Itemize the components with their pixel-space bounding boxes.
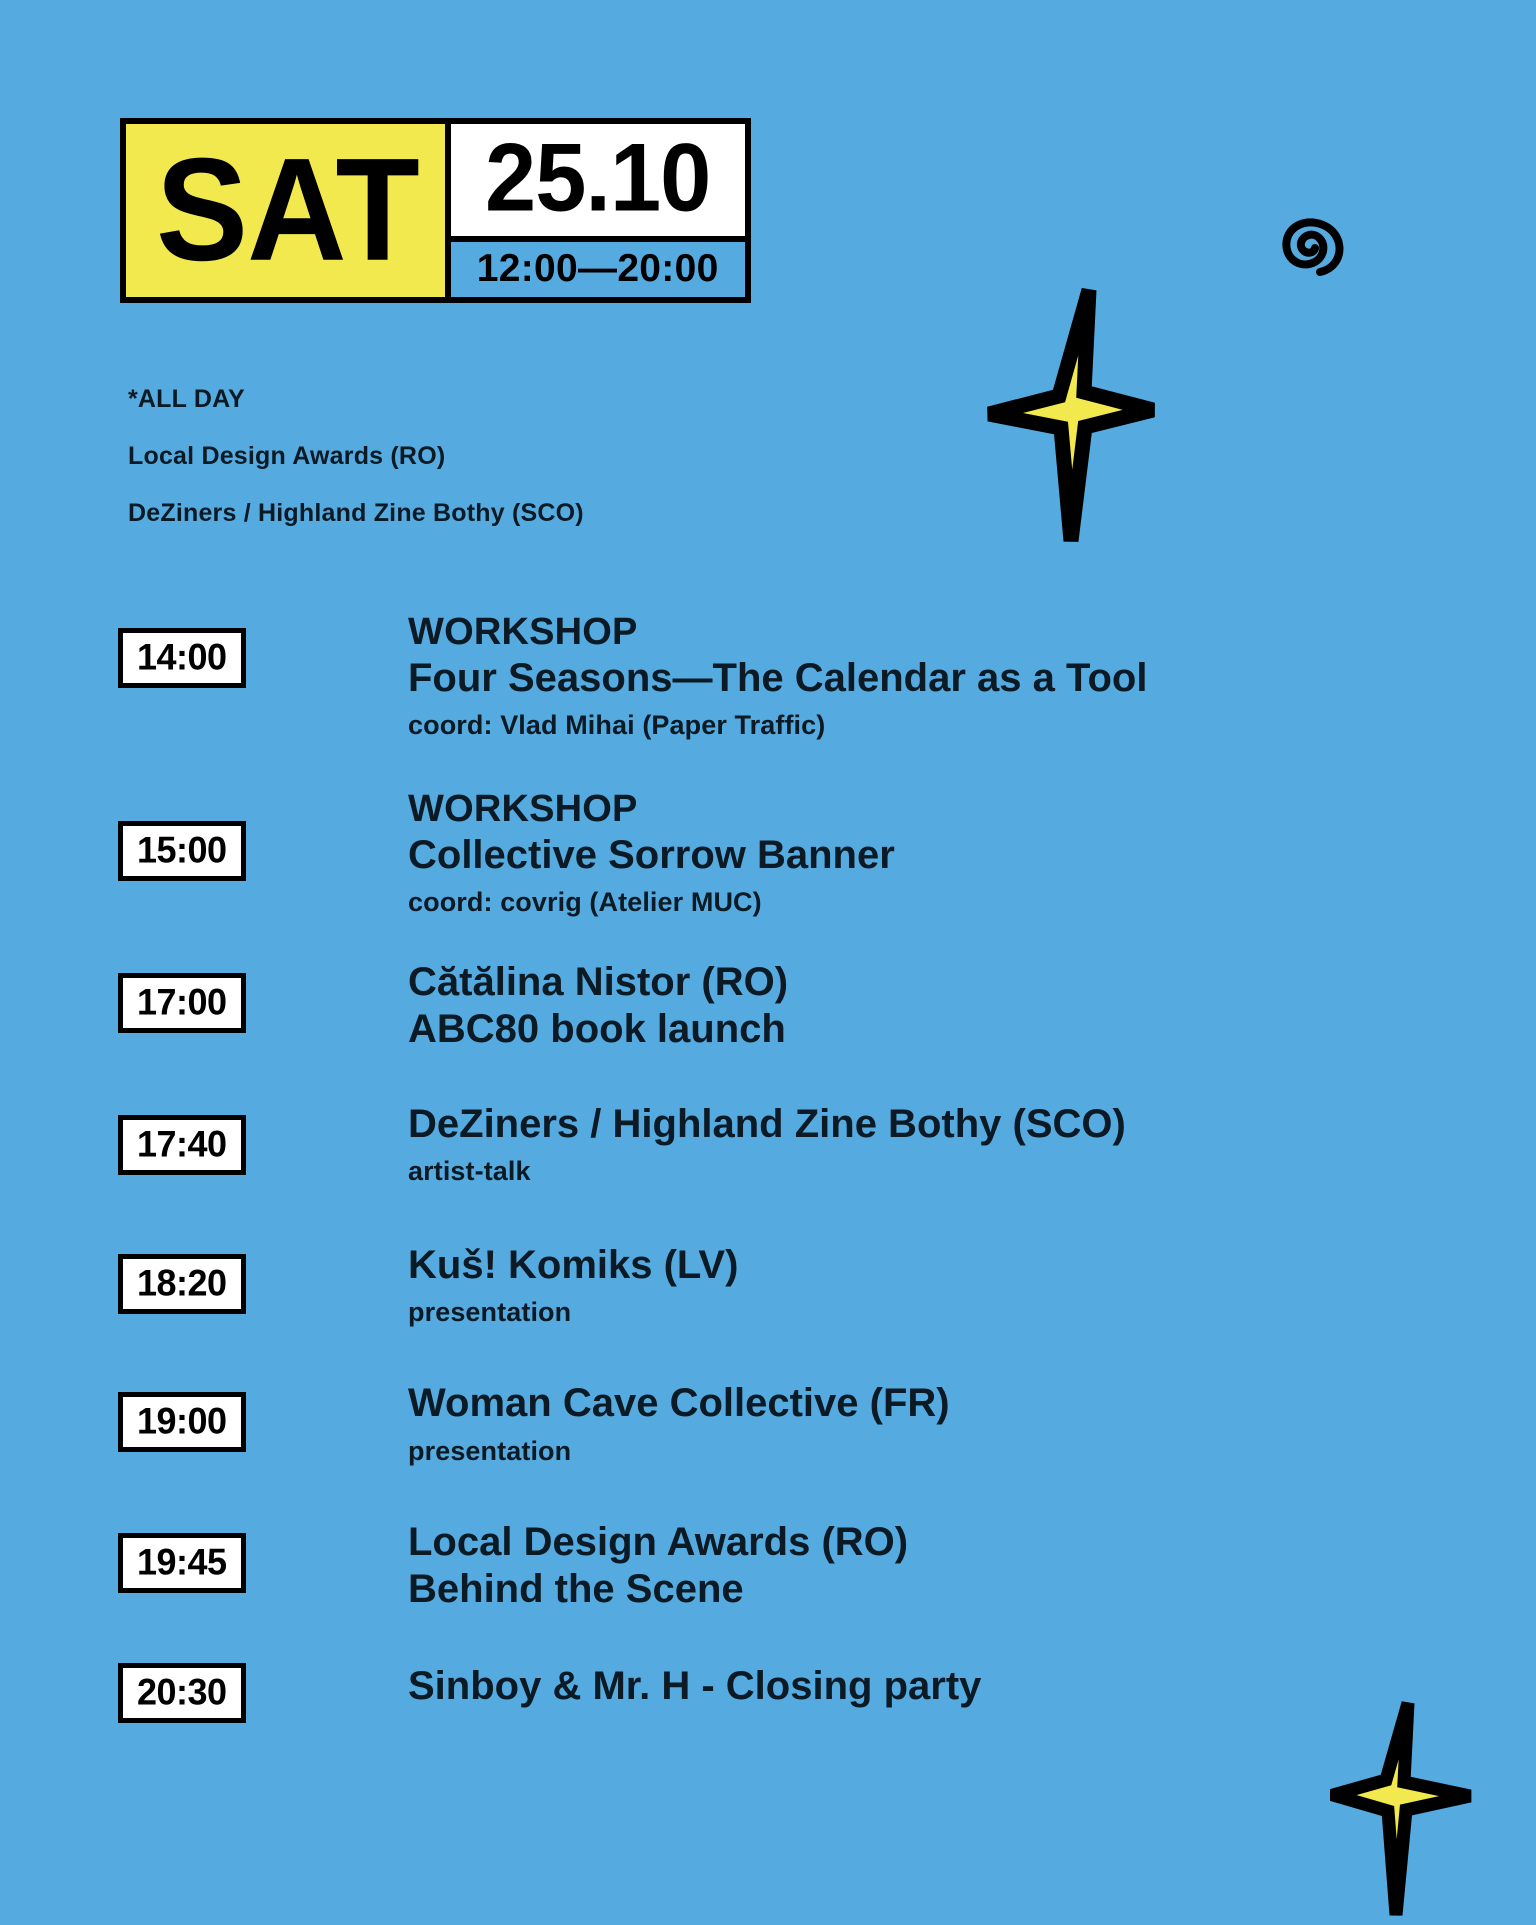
- four-point-star-icon: [1330, 1700, 1480, 1925]
- schedule-entry: 19:45 Local Design Awards (RO) Behind th…: [118, 1517, 1438, 1613]
- entry-title: Four Seasons—The Calendar as a Tool: [408, 655, 1438, 702]
- time-chip: 14:00: [118, 628, 246, 688]
- time-label: 15:00: [137, 832, 227, 869]
- schedule-entry: 15:00 WORKSHOP Collective Sorrow Banner …: [118, 785, 1438, 918]
- entry-title: Local Design Awards (RO): [408, 1519, 1438, 1566]
- entry-title: Sinboy & Mr. H - Closing party: [408, 1663, 1438, 1710]
- time-label: 19:00: [137, 1403, 227, 1440]
- schedule-entry: 19:00 Woman Cave Collective (FR) present…: [118, 1378, 1438, 1467]
- time-chip: 17:00: [118, 973, 246, 1033]
- schedule-entry: 17:40 DeZiners / Highland Zine Bothy (SC…: [118, 1099, 1438, 1188]
- entry-kicker: WORKSHOP: [408, 787, 1438, 832]
- entry-body: Sinboy & Mr. H - Closing party: [408, 1661, 1438, 1710]
- entry-body: Kuš! Komiks (LV) presentation: [408, 1240, 1438, 1329]
- entry-kicker: WORKSHOP: [408, 610, 1438, 655]
- entry-subtitle: presentation: [408, 1296, 1438, 1328]
- time-chip-wrap: 17:00: [118, 957, 408, 1033]
- entry-body: DeZiners / Highland Zine Bothy (SCO) art…: [408, 1099, 1438, 1188]
- time-chip: 20:30: [118, 1663, 246, 1723]
- entry-subtitle: coord: covrig (Atelier MUC): [408, 886, 1438, 918]
- entry-body: Woman Cave Collective (FR) presentation: [408, 1378, 1438, 1467]
- time-label: 17:00: [137, 983, 227, 1020]
- entry-body: WORKSHOP Collective Sorrow Banner coord:…: [408, 785, 1438, 918]
- hours-box: 12:00—20:00: [451, 242, 745, 297]
- time-label: 18:20: [137, 1264, 227, 1301]
- time-chip: 17:40: [118, 1115, 246, 1175]
- time-chip-wrap: 19:45: [118, 1517, 408, 1593]
- time-label: 17:40: [137, 1125, 227, 1162]
- entry-title: DeZiners / Highland Zine Bothy (SCO): [408, 1101, 1438, 1148]
- poster-canvas: SAT 25.10 12:00—20:00 *ALL DAY Local Des…: [0, 0, 1536, 1920]
- entry-body: WORKSHOP Four Seasons—The Calendar as a …: [408, 608, 1438, 741]
- schedule-list: 14:00 WORKSHOP Four Seasons—The Calendar…: [118, 608, 1438, 1723]
- schedule-entry: 20:30 Sinboy & Mr. H - Closing party: [118, 1661, 1438, 1723]
- hours-label: 12:00—20:00: [477, 249, 719, 288]
- entry-subtitle: coord: Vlad Mihai (Paper Traffic): [408, 709, 1438, 741]
- time-label: 14:00: [137, 638, 227, 675]
- all-day-heading: *ALL DAY: [128, 385, 584, 414]
- entry-title: Collective Sorrow Banner: [408, 832, 1438, 879]
- time-chip-wrap: 14:00: [118, 608, 408, 688]
- entry-title: Woman Cave Collective (FR): [408, 1380, 1438, 1427]
- day-box: SAT: [126, 124, 451, 297]
- all-day-item: DeZiners / Highland Zine Bothy (SCO): [128, 499, 584, 528]
- entry-body: Local Design Awards (RO) Behind the Scen…: [408, 1517, 1438, 1613]
- four-point-star-icon: [985, 288, 1170, 548]
- date-box: 25.10: [451, 124, 745, 242]
- time-chip-wrap: 17:40: [118, 1099, 408, 1175]
- time-chip: 15:00: [118, 821, 246, 881]
- all-day-item: Local Design Awards (RO): [128, 442, 584, 471]
- entry-subtitle: artist-talk: [408, 1155, 1438, 1187]
- time-chip-wrap: 18:20: [118, 1240, 408, 1314]
- entry-body: Cătălina Nistor (RO) ABC80 book launch: [408, 957, 1438, 1053]
- time-chip-wrap: 15:00: [118, 785, 408, 881]
- entry-subtitle: presentation: [408, 1435, 1438, 1467]
- time-label: 19:45: [137, 1543, 227, 1580]
- entry-title-second-line: ABC80 book launch: [408, 1006, 1438, 1053]
- time-chip-wrap: 20:30: [118, 1661, 408, 1723]
- time-chip: 18:20: [118, 1254, 246, 1314]
- date-column: 25.10 12:00—20:00: [451, 124, 745, 297]
- date-header: SAT 25.10 12:00—20:00: [120, 118, 751, 303]
- schedule-entry: 14:00 WORKSHOP Four Seasons—The Calendar…: [118, 608, 1438, 741]
- time-label: 20:30: [137, 1674, 227, 1711]
- time-chip-wrap: 19:00: [118, 1378, 408, 1452]
- entry-title: Cătălina Nistor (RO): [408, 959, 1438, 1006]
- entry-title-second-line: Behind the Scene: [408, 1566, 1438, 1613]
- time-chip: 19:00: [118, 1392, 246, 1452]
- all-day-section: *ALL DAY Local Design Awards (RO) DeZine…: [128, 385, 584, 528]
- entry-title: Kuš! Komiks (LV): [408, 1242, 1438, 1289]
- schedule-entry: 18:20 Kuš! Komiks (LV) presentation: [118, 1240, 1438, 1329]
- day-label: SAT: [156, 141, 419, 280]
- time-chip: 19:45: [118, 1533, 246, 1593]
- date-label: 25.10: [485, 130, 710, 227]
- schedule-entry: 17:00 Cătălina Nistor (RO) ABC80 book la…: [118, 957, 1438, 1053]
- spiral-icon: [1276, 210, 1348, 287]
